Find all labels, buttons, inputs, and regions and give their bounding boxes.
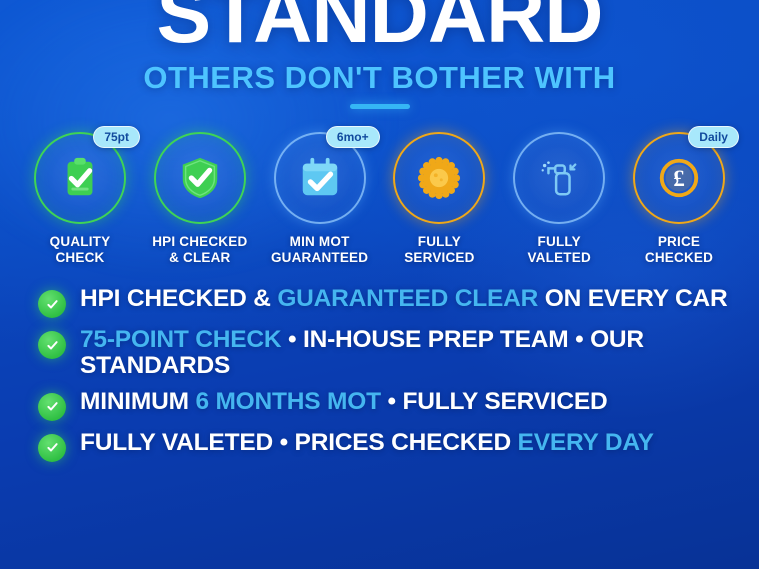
plain-text: • FULLY SERVICED	[381, 388, 608, 415]
feature-fully[interactable]: FULLYVALETED	[501, 118, 617, 266]
feature-icon-ring	[513, 132, 605, 224]
list-item: FULLY VALETED • PRICES CHECKED EVERY DAY	[38, 430, 728, 462]
feature-label: HPI CHECKED& CLEAR	[152, 234, 247, 266]
feature-label-line1: QUALITY	[50, 234, 111, 250]
check-circle-icon	[38, 331, 66, 359]
feature-icon-ring	[393, 132, 485, 224]
list-item: 75-POINT CHECK • IN-HOUSE PREP TEAM • OU…	[38, 327, 728, 380]
feature-icon-ring: £ Daily	[633, 132, 725, 224]
plain-text: HPI CHECKED &	[80, 285, 277, 312]
highlighted-text: 6 MONTHS MOT	[195, 388, 380, 415]
list-item-text: MINIMUM 6 MONTHS MOT • FULLY SERVICED	[80, 389, 608, 415]
promo-banner: STANDARD OTHERS DON'T BOTHER WITH 75ptQU…	[0, 0, 759, 569]
feature-label-line1: FULLY	[527, 234, 590, 250]
highlighted-text: GUARANTEED CLEAR	[277, 285, 538, 312]
feature-min-mot[interactable]: 6mo+MIN MOTGUARANTEED	[262, 118, 378, 266]
feature-label-line2: SERVICED	[404, 250, 474, 266]
header: STANDARD OTHERS DON'T BOTHER WITH	[0, 0, 759, 123]
feature-hpi-checked[interactable]: HPI CHECKED& CLEAR	[142, 118, 258, 266]
plain-text: FULLY VALETED • PRICES CHECKED	[80, 429, 518, 456]
check-circle-icon	[38, 434, 66, 462]
feature-label-line2: & CLEAR	[152, 250, 247, 266]
feature-label: FULLYSERVICED	[404, 234, 474, 266]
feature-label-line1: MIN MOT	[271, 234, 368, 250]
highlighted-text: 75-POINT CHECK	[80, 326, 281, 353]
feature-label-line1: PRICE	[645, 234, 713, 250]
feature-badge: Daily	[688, 126, 739, 148]
feature-quality[interactable]: 75ptQUALITYCHECK	[22, 118, 138, 266]
feature-label-line2: VALETED	[527, 250, 590, 266]
feature-label-line2: CHECK	[50, 250, 111, 266]
feature-badge-row: 75ptQUALITYCHECK HPI CHECKED& CLEAR 6mo+…	[0, 118, 759, 266]
feature-bullet-list: HPI CHECKED & GUARANTEED CLEAR ON EVERY …	[38, 286, 728, 471]
feature-label: FULLYVALETED	[527, 234, 590, 266]
check-circle-icon	[38, 393, 66, 421]
feature-icon-ring: 6mo+	[274, 132, 366, 224]
page-title: STANDARD	[0, 0, 759, 56]
list-item-text: FULLY VALETED • PRICES CHECKED EVERY DAY	[80, 430, 654, 456]
list-item: MINIMUM 6 MONTHS MOT • FULLY SERVICED	[38, 389, 728, 421]
list-item: HPI CHECKED & GUARANTEED CLEAR ON EVERY …	[38, 286, 728, 318]
feature-label-line1: FULLY	[404, 234, 474, 250]
feature-icon-ring	[154, 132, 246, 224]
feature-badge: 75pt	[93, 126, 140, 148]
list-item-text: 75-POINT CHECK • IN-HOUSE PREP TEAM • OU…	[80, 327, 728, 380]
feature-label-line1: HPI CHECKED	[152, 234, 247, 250]
feature-fully[interactable]: FULLYSERVICED	[381, 118, 497, 266]
feature-label: MIN MOTGUARANTEED	[271, 234, 368, 266]
svg-text:£: £	[673, 166, 685, 191]
feature-label: QUALITYCHECK	[50, 234, 111, 266]
plain-text: ON EVERY CAR	[538, 285, 727, 312]
feature-label-line2: GUARANTEED	[271, 250, 368, 266]
check-circle-icon	[38, 290, 66, 318]
title-divider	[350, 104, 410, 109]
feature-label-line2: CHECKED	[645, 250, 713, 266]
feature-price[interactable]: £ DailyPRICECHECKED	[621, 118, 737, 266]
highlighted-text: EVERY DAY	[518, 429, 654, 456]
plain-text: MINIMUM	[80, 388, 195, 415]
feature-label: PRICECHECKED	[645, 234, 713, 266]
shield-check-icon	[154, 132, 246, 224]
list-item-text: HPI CHECKED & GUARANTEED CLEAR ON EVERY …	[80, 286, 728, 312]
feature-badge: 6mo+	[326, 126, 380, 148]
feature-icon-ring: 75pt	[34, 132, 126, 224]
gear-icon	[393, 132, 485, 224]
page-subtitle: OTHERS DON'T BOTHER WITH	[0, 60, 759, 96]
spray-bottle-icon	[513, 132, 605, 224]
